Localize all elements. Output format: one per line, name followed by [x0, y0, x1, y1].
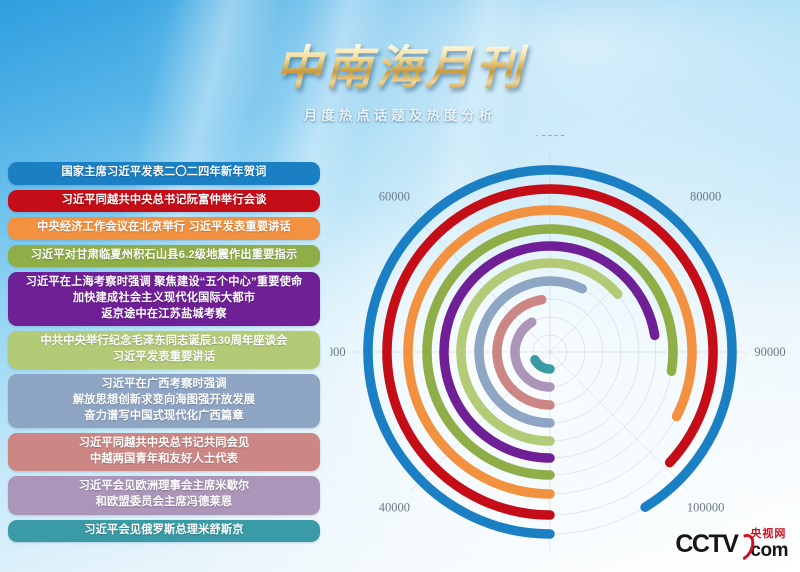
axis-tick-label: 50000	[330, 345, 346, 359]
legend-item-label: 加快建成社会主义现代化国际大都市	[14, 291, 314, 307]
cctv-tld-label: com	[750, 541, 788, 560]
legend-item-4[interactable]: 习近平对甘肃临夏州积石山县6.2级地震作出重要指示	[8, 245, 320, 268]
legend: 国家主席习近平发表二〇二四年新年贺词习近平同越共中央总书记阮富仲举行会谈中央经济…	[8, 162, 320, 547]
legend-item-label: 中央经济工作会议在北京举行 习近平发表重要讲话	[14, 220, 314, 236]
legend-item-7[interactable]: 习近平在广西考察时强调解放思想创新求变向海图强开放发展奋力谱写中国式现代化广西篇…	[8, 374, 320, 428]
legend-item-label: 习近平发表重要讲话	[14, 350, 314, 366]
legend-item-label: 返京途中在江苏盐城考察	[14, 307, 314, 323]
axis-tick-label: 40000	[379, 501, 410, 515]
cctv-logo: CCTV 央视网 com	[675, 529, 788, 560]
legend-item-2[interactable]: 习近平同越共中央总书记阮富仲举行会谈	[8, 190, 320, 213]
radial-bar-9[interactable]	[515, 322, 550, 387]
cctv-chinese-label: 央视网	[750, 529, 788, 540]
cctv-wordmark: CCTV	[675, 532, 737, 557]
legend-item-label: 中越两国青年和友好人士代表	[14, 452, 314, 468]
page-subtitle: 月度热点话题及热度分析	[0, 104, 800, 124]
axis-tick-label: 80000	[690, 189, 721, 203]
axis-tick-label: 90000	[754, 345, 785, 359]
legend-item-8[interactable]: 习近平同越共中央总书记共同会见中越两国青年和友好人士代表	[8, 433, 320, 471]
legend-item-label: 习近平对甘肃临夏州积石山县6.2级地震作出重要指示	[14, 248, 314, 264]
infographic-canvas: 中南海月刊 月度热点话题及热度分析 国家主席习近平发表二〇二四年新年贺词习近平同…	[0, 0, 800, 572]
axis-tick-label: 60000	[379, 189, 410, 203]
cctv-swoosh-icon	[734, 532, 749, 558]
legend-item-1[interactable]: 国家主席习近平发表二〇二四年新年贺词	[8, 162, 320, 185]
axis-tick-label: 70000	[534, 135, 565, 139]
legend-item-label: 习近平会见欧洲理事会主席米歇尔	[14, 479, 314, 495]
legend-item-label: 习近平同越共中央总书记阮富仲举行会谈	[14, 193, 314, 209]
legend-item-label: 解放思想创新求变向海图强开放发展	[14, 393, 314, 409]
cctv-domain: 央视网 com	[750, 529, 788, 560]
legend-item-3[interactable]: 中央经济工作会议在北京举行 习近平发表重要讲话	[8, 217, 320, 240]
legend-item-6[interactable]: 中共中央举行纪念毛泽东同志诞辰130周年座谈会习近平发表重要讲话	[8, 331, 320, 369]
legend-item-label: 奋力谱写中国式现代化广西篇章	[14, 409, 314, 425]
legend-item-label: 习近平同越共中央总书记共同会见	[14, 436, 314, 452]
legend-item-10[interactable]: 习近平会见俄罗斯总理米舒斯京	[8, 520, 320, 543]
legend-item-label: 中共中央举行纪念毛泽东同志诞辰130周年座谈会	[14, 334, 314, 350]
legend-item-label: 国家主席习近平发表二〇二四年新年贺词	[14, 165, 314, 181]
radial-bar-10[interactable]	[535, 360, 550, 369]
page-title: 中南海月刊	[0, 44, 800, 95]
legend-item-9[interactable]: 习近平会见欧洲理事会主席米歇尔和欧盟委员会主席冯德莱恩	[8, 476, 320, 514]
radial-bar-chart: 400005000060000700008000090000100000	[330, 135, 800, 565]
axis-tick-label: 100000	[687, 501, 725, 515]
chart-svg: 400005000060000700008000090000100000	[330, 135, 800, 565]
legend-item-5[interactable]: 习近平在上海考察时强调 聚焦建设“五个中心”重要使命加快建成社会主义现代化国际大…	[8, 272, 320, 326]
legend-item-label: 习近平会见俄罗斯总理米舒斯京	[14, 523, 314, 539]
legend-item-label: 习近平在上海考察时强调 聚焦建设“五个中心”重要使命	[14, 275, 314, 291]
legend-item-label: 和欧盟委员会主席冯德莱恩	[14, 495, 314, 511]
legend-item-label: 习近平在广西考察时强调	[14, 377, 314, 393]
header: 中南海月刊 月度热点话题及热度分析	[0, 44, 800, 124]
